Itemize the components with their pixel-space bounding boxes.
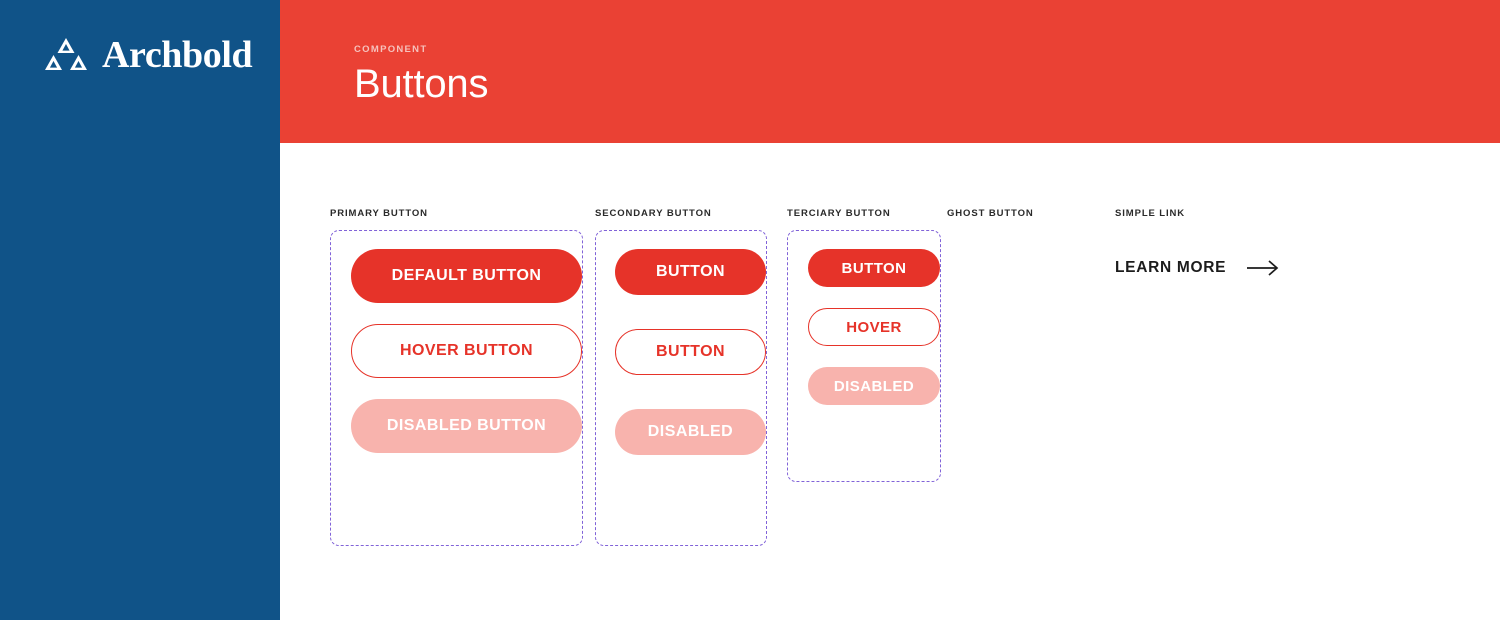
column-label-ghost: GHOST BUTTON <box>947 208 1115 219</box>
secondary-button-stack: BUTTON BUTTON DISABLED <box>596 249 766 455</box>
header-text-group: COMPONENT Buttons <box>354 44 488 106</box>
primary-hover-button[interactable]: HOVER BUTTON <box>351 324 582 378</box>
column-label-simple-link: SIMPLE LINK <box>1115 208 1375 219</box>
guide-box-secondary: BUTTON BUTTON DISABLED <box>595 230 767 546</box>
column-terciary-button: TERCIARY BUTTON BUTTON HOVER DISABLED <box>787 208 947 482</box>
page-title: Buttons <box>354 62 488 106</box>
guide-box-primary: DEFAULT BUTTON HOVER BUTTON DISABLED BUT… <box>330 230 583 546</box>
learn-more-label: LEARN MORE <box>1115 259 1226 277</box>
brand-name: Archbold <box>102 36 252 74</box>
header-eyebrow: COMPONENT <box>354 44 488 55</box>
primary-disabled-button: DISABLED BUTTON <box>351 399 582 453</box>
secondary-disabled-button: DISABLED <box>615 409 766 455</box>
column-label-primary: PRIMARY BUTTON <box>330 208 595 219</box>
column-ghost-button: GHOST BUTTON <box>947 208 1115 230</box>
learn-more-link[interactable]: LEARN MORE <box>1115 259 1375 277</box>
secondary-default-button[interactable]: BUTTON <box>615 249 766 295</box>
column-label-terciary: TERCIARY BUTTON <box>787 208 947 219</box>
terciary-default-button[interactable]: BUTTON <box>808 249 940 287</box>
sierpinski-triangle-logo-icon <box>44 38 88 72</box>
sidebar: Archbold <box>0 0 280 620</box>
terciary-disabled-button: DISABLED <box>808 367 940 405</box>
brand-logo[interactable]: Archbold <box>44 36 252 74</box>
page-header: COMPONENT Buttons <box>280 0 1500 143</box>
design-system-buttons-page: Archbold COMPONENT Buttons PRIMARY BUTTO… <box>0 0 1500 620</box>
terciary-hover-button[interactable]: HOVER <box>808 308 940 346</box>
content-area: PRIMARY BUTTON DEFAULT BUTTON HOVER BUTT… <box>280 143 1500 620</box>
secondary-hover-button[interactable]: BUTTON <box>615 329 766 375</box>
column-secondary-button: SECONDARY BUTTON BUTTON BUTTON DISABLED <box>595 208 787 546</box>
button-columns: PRIMARY BUTTON DEFAULT BUTTON HOVER BUTT… <box>330 208 1375 546</box>
column-label-secondary: SECONDARY BUTTON <box>595 208 787 219</box>
column-primary-button: PRIMARY BUTTON DEFAULT BUTTON HOVER BUTT… <box>330 208 595 546</box>
terciary-button-stack: BUTTON HOVER DISABLED <box>788 249 940 405</box>
arrow-right-icon <box>1246 259 1280 277</box>
primary-button-stack: DEFAULT BUTTON HOVER BUTTON DISABLED BUT… <box>331 249 582 453</box>
primary-default-button[interactable]: DEFAULT BUTTON <box>351 249 582 303</box>
guide-box-terciary: BUTTON HOVER DISABLED <box>787 230 941 482</box>
column-simple-link: SIMPLE LINK LEARN MORE <box>1115 208 1375 277</box>
